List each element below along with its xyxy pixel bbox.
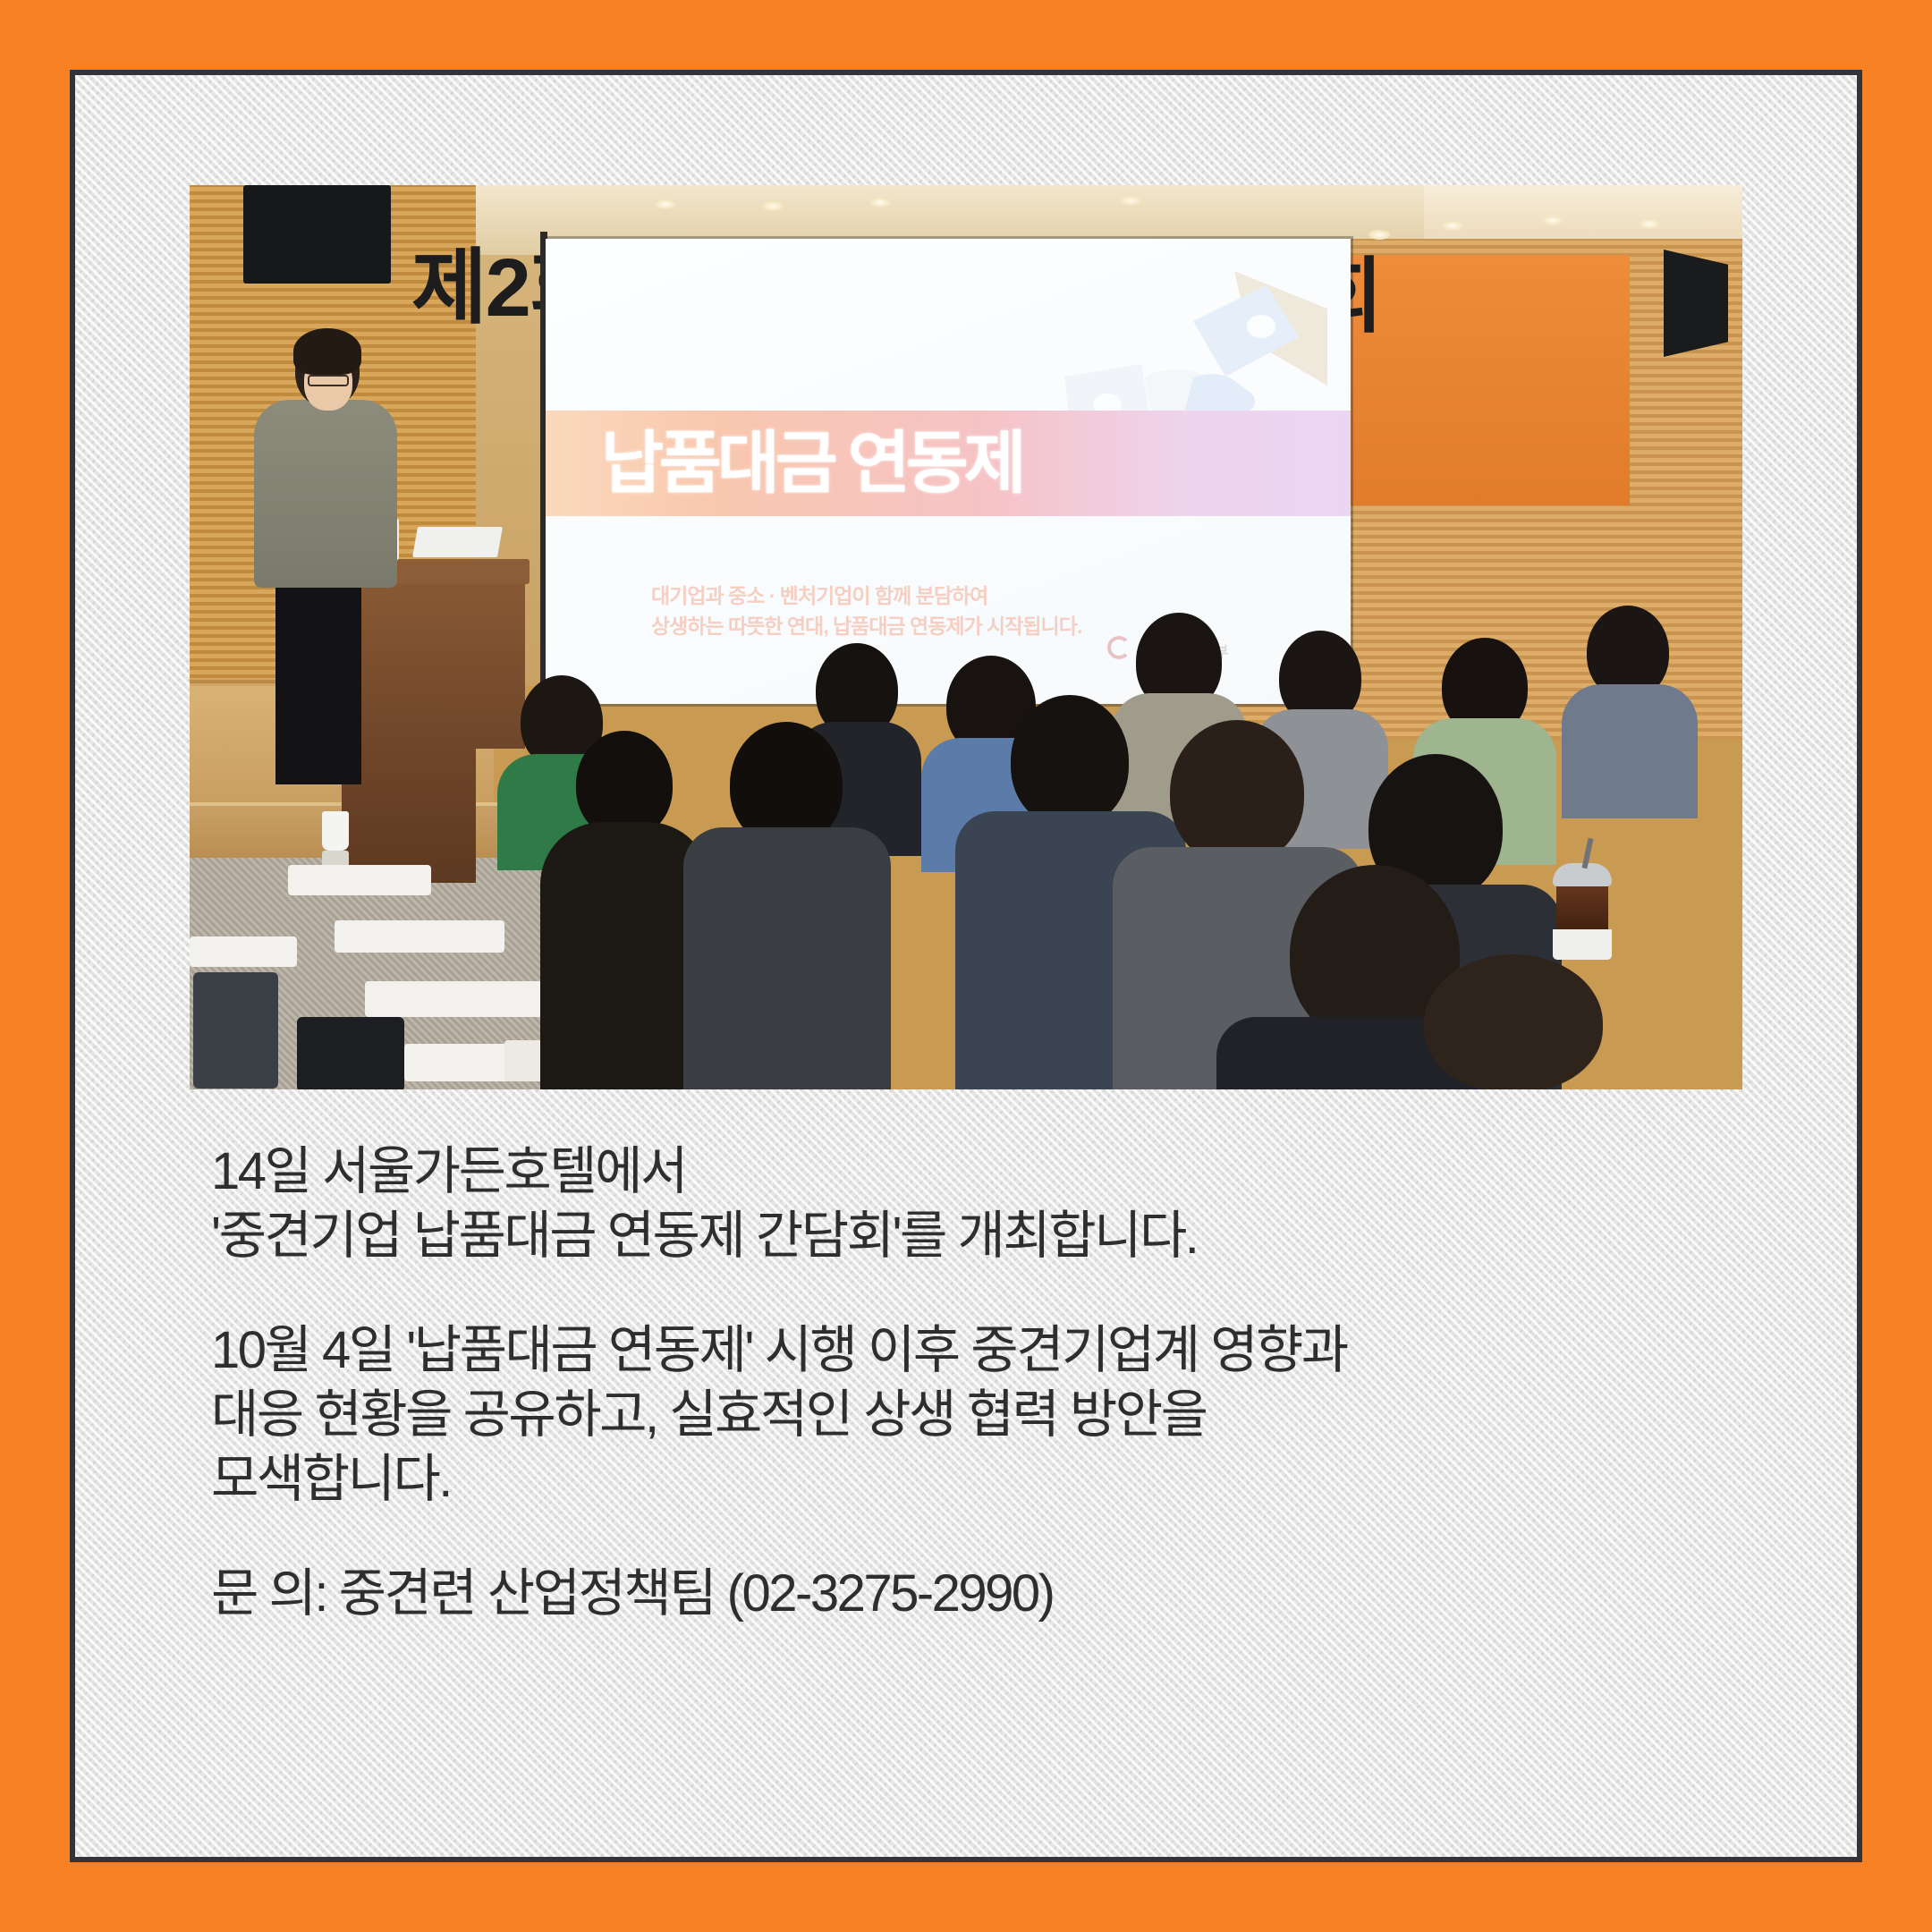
desk [365,981,557,1017]
caption-line: '중견기업 납품대금 연동제 간담회'를 개최합니다. [211,1204,1794,1268]
caption-line: 14일 서울가든호텔에서 [211,1140,1794,1204]
desk [288,865,431,895]
screen-title: 납품대금 연동제 [601,416,1156,513]
caption-line: 모색합니다. [211,1447,1794,1512]
laptop-icon [412,527,503,557]
ceiling-light-icon [1542,216,1563,225]
event-photo: 제2회 회 납품대금 연동제 대기업과 중소 · 벤처기업 [190,185,1742,1089]
screen-subtitle-line1: 대기업과 중소 · 벤처기업이 함께 분담하여 [651,579,1277,609]
ceiling-light-icon [655,199,676,209]
caption-paragraph-contact: 문 의: 중견련 산업정책팀 (02-3275-2990) [211,1562,1794,1626]
caption-block: 14일 서울가든호텔에서 '중견기업 납품대금 연동제 간담회'를 개최합니다.… [211,1140,1794,1626]
ceiling-light-icon [762,201,784,211]
projection-screen: 납품대금 연동제 대기업과 중소 · 벤처기업이 함께 분담하여 상생하는 따뜻… [546,239,1351,704]
desk [335,920,504,953]
chair-back [193,972,278,1089]
caption-paragraph-announcement: 14일 서울가든호텔에서 '중견기업 납품대금 연동제 간담회'를 개최합니다. [211,1140,1794,1268]
ceiling-light-icon [1639,219,1660,229]
bag [297,1017,404,1089]
caption-line: 10월 4일 '납품대금 연동제' 시행 이후 중견기업계 영향과 [211,1318,1794,1383]
caption-paragraph-description: 10월 4일 '납품대금 연동제' 시행 이후 중견기업계 영향과 대응 현황을… [211,1318,1794,1512]
ministry-logo-icon [1107,636,1131,659]
audience-head [1424,954,1603,1089]
ceiling-light-icon [1442,221,1463,231]
contact-line: 문 의: 중견련 산업정책팀 (02-3275-2990) [211,1562,1794,1626]
iced-coffee-cup-icon [1556,878,1608,934]
desk [190,936,297,967]
audience-body [1562,684,1698,818]
paper-cup-icon [322,811,349,851]
ceiling-light-icon [1120,196,1141,206]
hanging-speaker-icon [243,185,391,284]
cup-sleeve-icon [1553,929,1612,960]
hanging-speaker-icon [1664,250,1728,357]
audience-head [1011,695,1129,827]
audience-head [1170,720,1304,865]
caption-line: 대응 현황을 공유하고, 실효적인 상생 협력 방안을 [211,1383,1794,1447]
audience-body [683,827,891,1089]
ceiling-light-icon [869,198,891,208]
poster-card: 제2회 회 납품대금 연동제 대기업과 중소 · 벤처기업 [70,70,1862,1862]
